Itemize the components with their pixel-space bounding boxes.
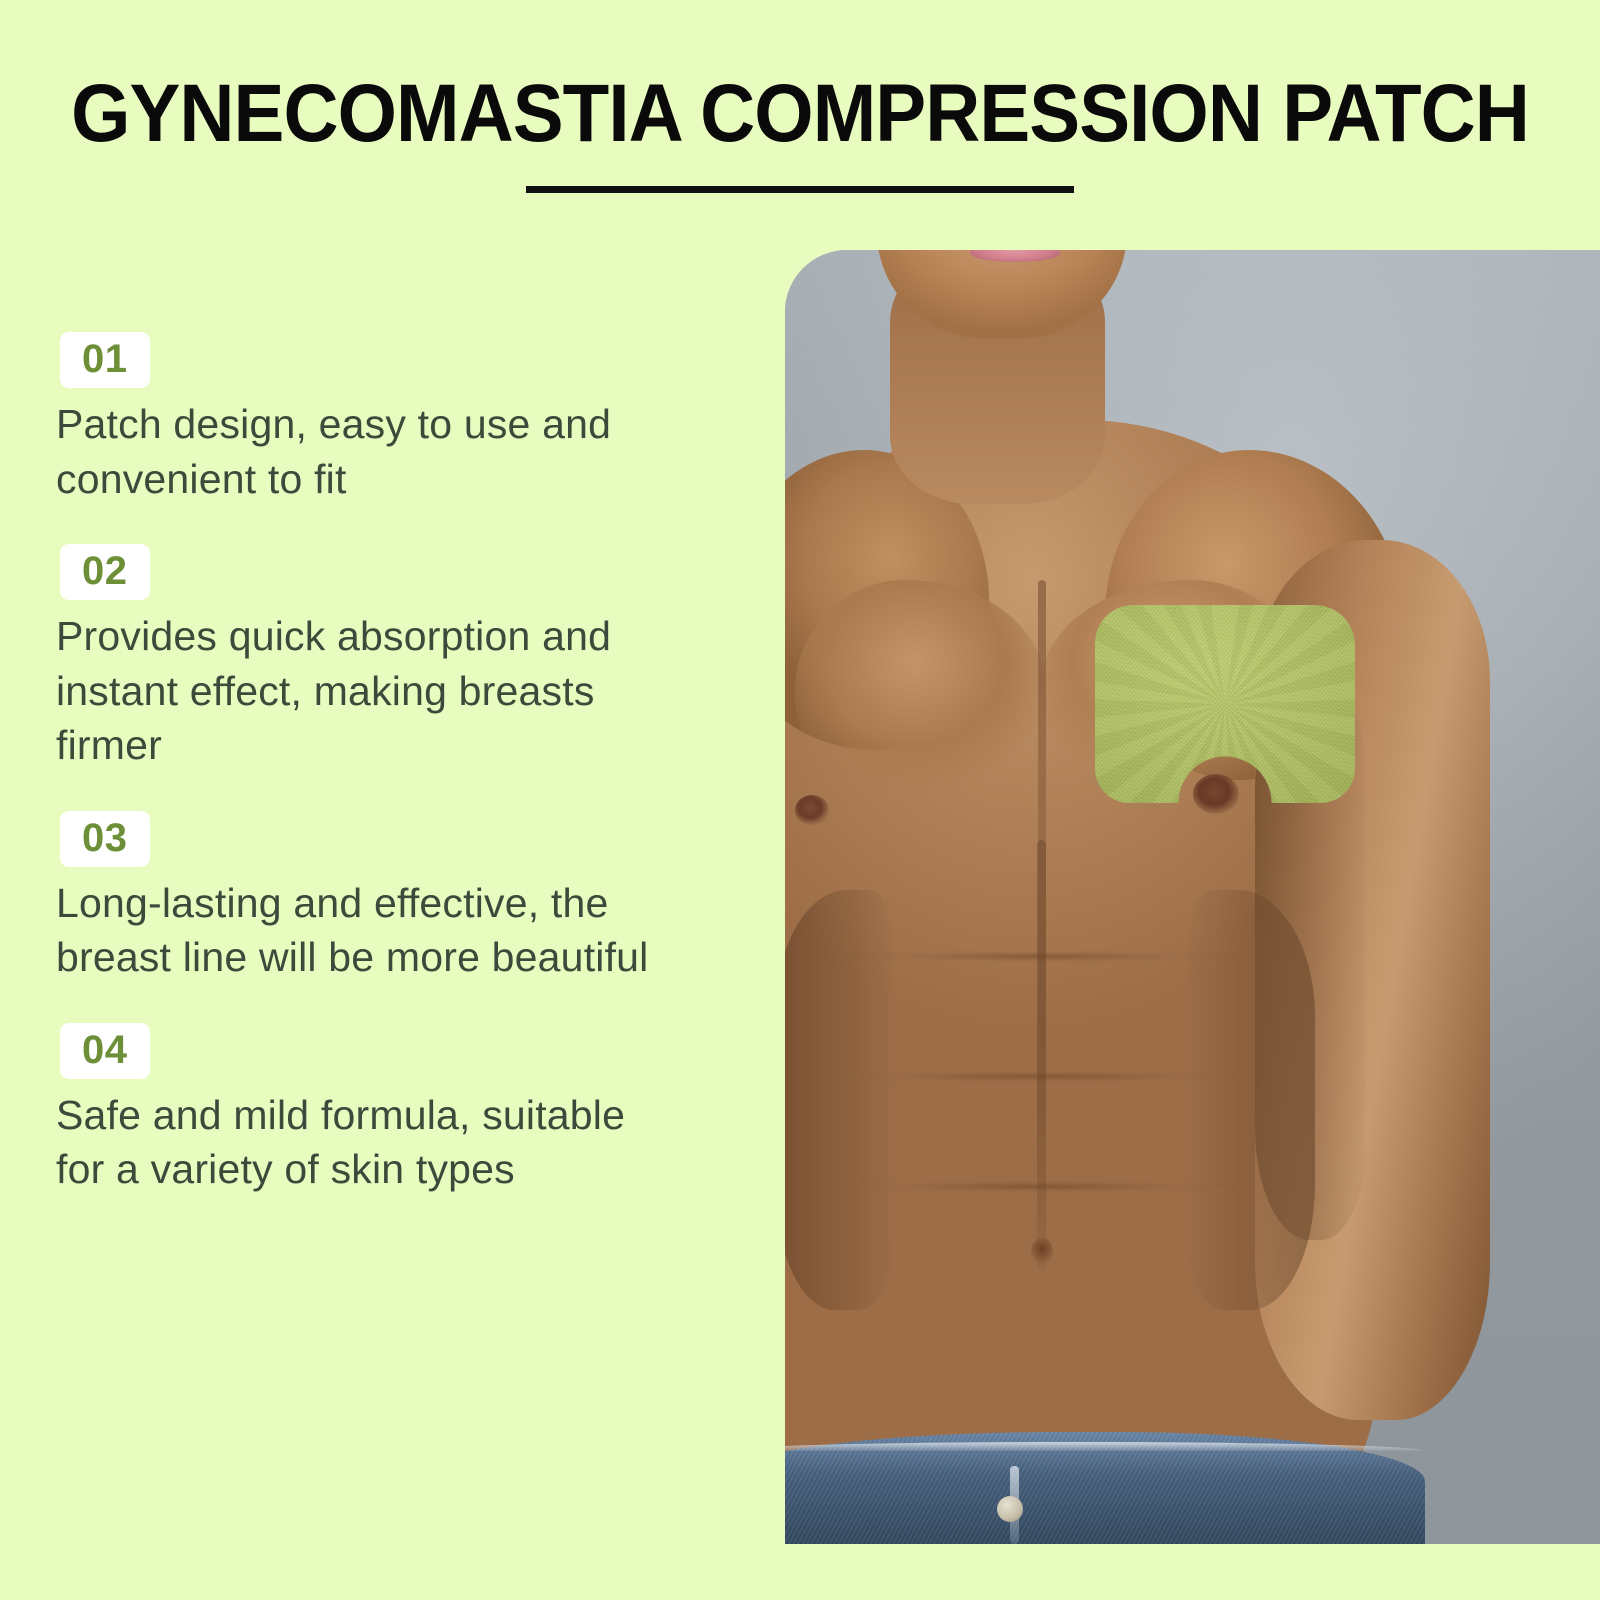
- feature-item-04: 04 Safe and mild formula, suitable for a…: [56, 1023, 696, 1197]
- feature-description: Long-lasting and effective, the breast l…: [56, 876, 676, 985]
- abdominal-crease: [845, 950, 1235, 963]
- feature-number: 03: [82, 816, 128, 860]
- feature-number-badge: 04: [60, 1023, 150, 1079]
- jeans-button: [997, 1496, 1023, 1522]
- page-title: GYNECOMASTIA COMPRESSION PATCH: [56, 72, 1544, 156]
- feature-number: 04: [82, 1028, 128, 1072]
- abdominal-crease: [840, 1070, 1240, 1083]
- feature-number-badge: 03: [60, 811, 150, 867]
- feature-description: Safe and mild formula, suitable for a va…: [56, 1088, 676, 1197]
- feature-item-02: 02 Provides quick absorption and instant…: [56, 544, 696, 773]
- patch-surface: [1095, 605, 1355, 803]
- feature-number-badge: 01: [60, 332, 150, 388]
- feature-item-03: 03 Long-lasting and effective, the breas…: [56, 811, 696, 985]
- left-oblique-shading: [785, 890, 895, 1310]
- left-nipple: [795, 795, 829, 825]
- jeans-waistband: [785, 1432, 1425, 1544]
- infographic-page: GYNECOMASTIA COMPRESSION PATCH 01 Patch …: [0, 0, 1600, 1600]
- feature-item-01: 01 Patch design, easy to use and conveni…: [56, 332, 696, 506]
- feature-description: Patch design, easy to use and convenient…: [56, 397, 676, 506]
- abdominal-crease: [843, 1180, 1235, 1193]
- feature-list: 01 Patch design, easy to use and conveni…: [56, 332, 696, 1197]
- feature-number-badge: 02: [60, 544, 150, 600]
- feature-description: Provides quick absorption and instant ef…: [56, 609, 676, 773]
- title-underline-rule: [526, 186, 1074, 193]
- right-oblique-shading: [1185, 890, 1315, 1310]
- feature-number: 01: [82, 337, 128, 381]
- linea-alba: [1037, 840, 1046, 1270]
- product-photo: [785, 250, 1600, 1544]
- title-block: GYNECOMASTIA COMPRESSION PATCH: [0, 72, 1600, 193]
- compression-patch-on-chest: [1095, 605, 1355, 803]
- male-torso-illustration: [785, 250, 1600, 1544]
- navel: [1031, 1238, 1053, 1264]
- feature-number: 02: [82, 549, 128, 593]
